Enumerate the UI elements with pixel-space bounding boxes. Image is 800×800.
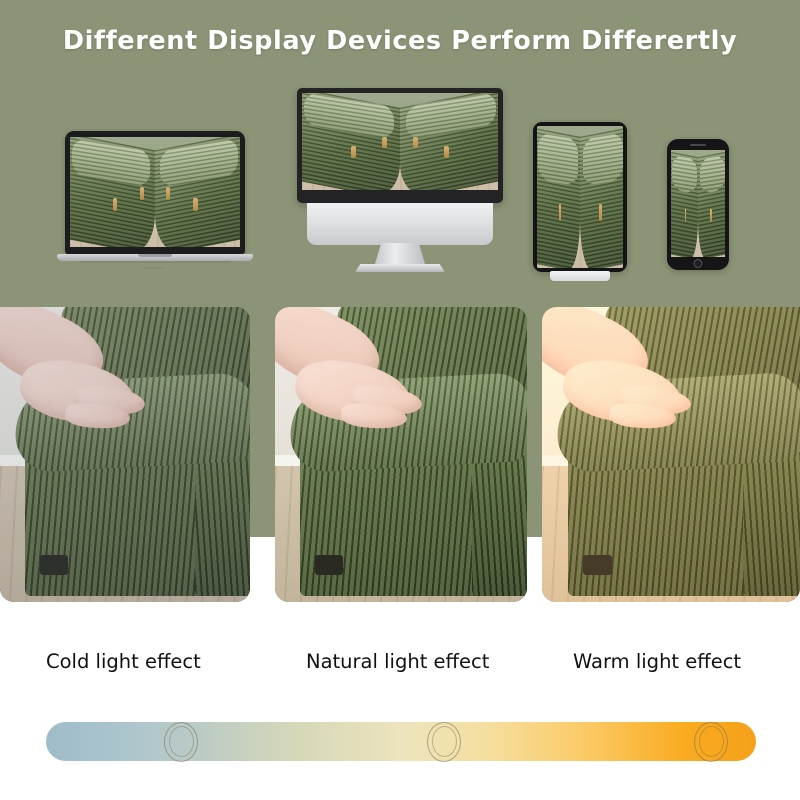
laptop-lid [65, 131, 245, 254]
monitor-stand-base [355, 264, 445, 272]
tablet-screen [537, 126, 623, 268]
photo-warm-light [542, 307, 800, 602]
leather-pull-tab [710, 209, 711, 222]
sofa-product-image [70, 137, 240, 247]
device-desktop-monitor [297, 88, 503, 270]
leather-pull-tab [599, 204, 601, 221]
caption-natural-light: Natural light effect [306, 650, 489, 673]
laptop-shadow-foot [79, 261, 231, 263]
leather-pull-tab [140, 187, 144, 200]
caption-cold-light: Cold light effect [46, 650, 201, 673]
monitor-bezel [297, 88, 503, 203]
photo-cold-light [0, 307, 250, 602]
device-phone [667, 139, 729, 270]
chair-side-panel [472, 449, 527, 597]
armchair-photo [275, 307, 527, 602]
monitor-screen [302, 93, 498, 190]
slider-marker-cold[interactable] [164, 722, 198, 762]
armchair-photo [0, 307, 250, 602]
leather-pull-tab [559, 204, 561, 221]
phone-bezel [667, 139, 729, 270]
photo-natural-light [275, 307, 527, 602]
chair-leg [315, 555, 343, 576]
chair-leg [40, 555, 68, 576]
leather-pull-tab [166, 187, 170, 200]
chair-leg [583, 555, 611, 576]
sofa-cushion-right [583, 131, 623, 186]
laptop-screen [70, 137, 240, 247]
leather-pull-tab [113, 198, 117, 211]
infographic-page: Different Display Devices Perform Differ… [0, 0, 800, 800]
device-tablet [533, 122, 627, 272]
monitor-chin [307, 203, 493, 245]
phone-home-button-icon[interactable] [694, 259, 703, 268]
laptop-brand-label: MacBook Air [57, 266, 253, 270]
leather-pull-tab [382, 137, 387, 149]
sofa-cushion-left [538, 131, 578, 186]
leather-pull-tab [193, 198, 197, 211]
page-title: Different Display Devices Perform Differ… [0, 26, 800, 56]
chair-side-panel [195, 449, 250, 597]
caption-warm-light: Warm light effect [573, 650, 741, 673]
slider-marker-warm[interactable] [694, 722, 728, 762]
tablet-bezel [533, 122, 627, 272]
monitor-stand-neck [374, 243, 426, 267]
tablet-stand [550, 271, 610, 281]
leather-pull-tab [413, 137, 418, 149]
device-laptop: MacBook Air [57, 131, 253, 271]
armchair-photo [542, 307, 800, 602]
chair-side-panel [743, 449, 800, 597]
sofa-product-image [671, 150, 725, 257]
phone-speaker-icon [690, 144, 706, 146]
laptop-notch [138, 254, 172, 257]
leather-pull-tab [685, 209, 686, 222]
leather-pull-tab [351, 146, 356, 158]
leather-pull-tab [444, 146, 449, 158]
slider-marker-natural[interactable] [427, 722, 461, 762]
phone-screen [671, 150, 725, 257]
sofa-product-image [302, 93, 498, 190]
color-temperature-slider[interactable] [46, 722, 756, 761]
sofa-product-image [537, 126, 623, 268]
